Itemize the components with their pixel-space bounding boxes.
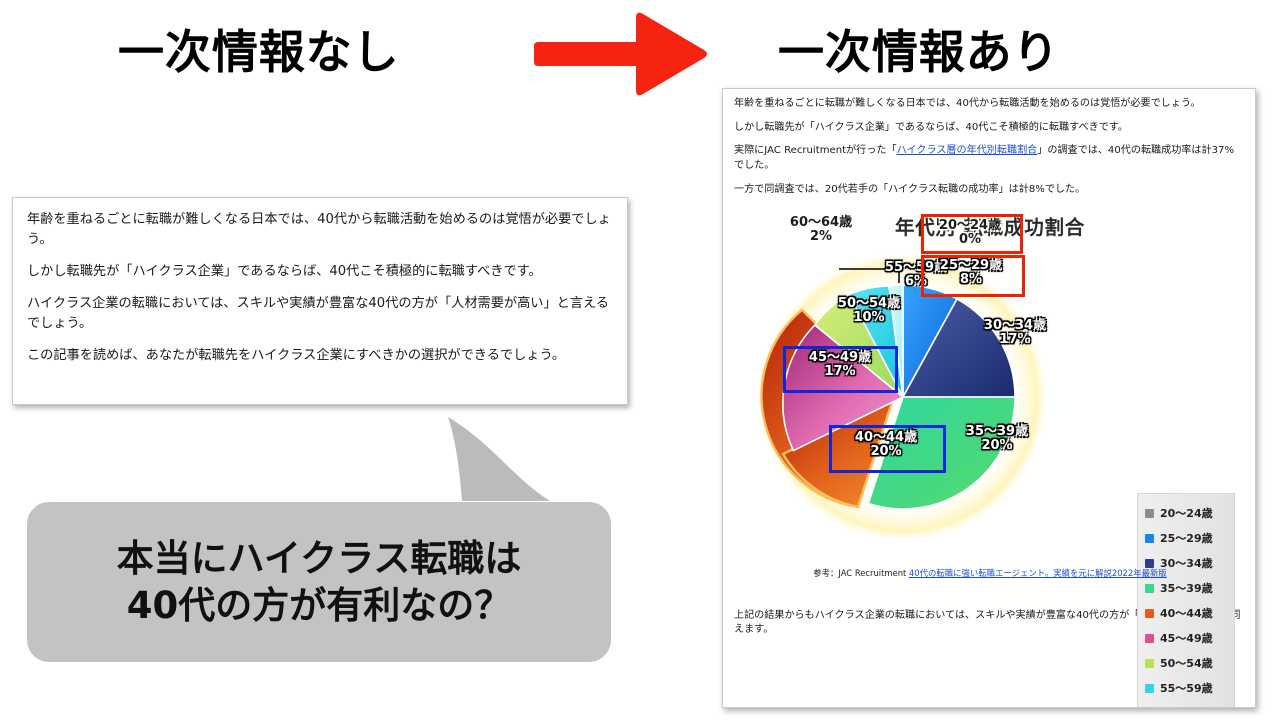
callout-bubble: 本当にハイクラス転職は 40代の方が有利なの？ xyxy=(27,502,611,662)
highlight-box-25-29 xyxy=(921,255,1025,297)
legend-item-60-64: 60〜64歳 xyxy=(1145,701,1230,708)
legend-label-25-29: 25〜29歳 xyxy=(1160,530,1213,546)
highlight-box-20-24 xyxy=(921,214,1023,254)
legend-swatch-50-54 xyxy=(1145,659,1154,668)
legend-swatch-55-59 xyxy=(1145,684,1154,693)
source-prefix: 参考：JAC Recruitment xyxy=(813,568,909,578)
legend-item-25-29: 25〜29歳 xyxy=(1145,526,1230,551)
legend-label-45-49: 45〜49歳 xyxy=(1160,630,1213,646)
survey-link[interactable]: ハイクラス層の年代別転職割合 xyxy=(897,145,1038,156)
speech-bubble-tail xyxy=(400,395,600,515)
left-paragraph-3: ハイクラス企業の転職においては、スキルや実績が豊富な40代の方が「人材需要が高い… xyxy=(27,294,613,334)
pie-label-50-54: 50〜54歳 10% xyxy=(821,297,917,326)
legend-label-55-59: 55〜59歳 xyxy=(1160,680,1213,696)
link-prefix-text: 実際にJAC Recruitmentが行った「 xyxy=(734,145,897,156)
left-paragraph-1: 年齢を重ねるごとに転職が難しくなる日本では、40代から転職活動を始めるのは覚悟が… xyxy=(27,210,613,250)
left-paragraph-2: しかし転職先が「ハイクラス企業」であるならば、40代こそ積極的に転職すべきです。 xyxy=(27,262,613,282)
legend-item-55-59: 55〜59歳 xyxy=(1145,676,1230,701)
highlight-box-45-49 xyxy=(783,346,898,393)
slide-canvas: 一次情報なし 一次情報あり 年齢を重ねるごとに転職が難しくなる日本では、40代か… xyxy=(0,0,1280,720)
right-top-text-block: 年齢を重ねるごとに転職が難しくなる日本では、40代から転職活動を始めるのは覚悟が… xyxy=(723,89,1255,209)
right-paragraph-2: しかし転職先が「ハイクラス企業」であるならば、40代こそ積極的に転職すべきです。 xyxy=(734,121,1244,136)
left-article-box: 年齢を重ねるごとに転職が難しくなる日本では、40代から転職活動を始めるのは覚悟が… xyxy=(12,197,628,405)
highlight-box-40-44 xyxy=(829,425,946,473)
right-paragraph-4: 一方で同調査では、20代若手の「ハイクラス転職の成功率」は計8%でした。 xyxy=(734,183,1244,198)
legend-swatch-25-29 xyxy=(1145,534,1154,543)
right-paragraph-3-with-link: 実際にJAC Recruitmentが行った「ハイクラス層の年代別転職割合」の調… xyxy=(734,144,1244,173)
left-paragraph-4: この記事を読めば、あなたが転職先をハイクラス企業にすべきかの選択ができるでしょう… xyxy=(27,346,613,366)
legend-item-20-24: 20〜24歳 xyxy=(1145,501,1230,526)
legend-swatch-20-24 xyxy=(1145,509,1154,518)
callout-line-1: 本当にハイクラス転職は xyxy=(117,535,522,582)
right-arrow-icon xyxy=(532,8,712,100)
pie-label-30-34: 30〜34歳 17% xyxy=(969,319,1061,348)
pie-legend: 20〜24歳 25〜29歳 30〜34歳 35〜39歳 40〜44歳 xyxy=(1137,493,1235,708)
headline-right: 一次情報あり xyxy=(778,16,1060,82)
headline-left: 一次情報なし xyxy=(118,16,400,82)
right-article-panel: 年齢を重ねるごとに転職が難しくなる日本では、40代から転職活動を始めるのは覚悟が… xyxy=(722,88,1256,708)
pie-label-35-39: 35〜39歳 20% xyxy=(951,425,1043,454)
callout-line-2: 40代の方が有利なの？ xyxy=(127,582,512,629)
right-paragraph-1: 年齢を重ねるごとに転職が難しくなる日本では、40代から転職活動を始めるのは覚悟が… xyxy=(734,97,1244,112)
legend-swatch-40-44 xyxy=(1145,609,1154,618)
legend-label-50-54: 50〜54歳 xyxy=(1160,655,1213,671)
pie-label-60-64: 60〜64歳 2% xyxy=(778,216,864,245)
legend-swatch-45-49 xyxy=(1145,634,1154,643)
legend-label-40-44: 40〜44歳 xyxy=(1160,605,1213,621)
legend-label-60-64: 60〜64歳 xyxy=(1160,705,1213,708)
legend-label-35-39: 35〜39歳 xyxy=(1160,580,1213,596)
chart-source-note: 参考：JAC Recruitment 40代の転職に強い転職エージェント。実績を… xyxy=(723,567,1256,579)
legend-item-35-39: 35〜39歳 xyxy=(1145,576,1230,601)
source-link[interactable]: 40代の転職に強い転職エージェント。実績を元に解説2022年最新版 xyxy=(909,568,1167,578)
legend-item-40-44: 40〜44歳 xyxy=(1145,601,1230,626)
legend-label-20-24: 20〜24歳 xyxy=(1160,505,1213,521)
legend-swatch-35-39 xyxy=(1145,584,1154,593)
legend-item-50-54: 50〜54歳 xyxy=(1145,651,1230,676)
legend-item-45-49: 45〜49歳 xyxy=(1145,626,1230,651)
pie-chart-figure: 年代別 転職成功割合 xyxy=(723,209,1256,601)
